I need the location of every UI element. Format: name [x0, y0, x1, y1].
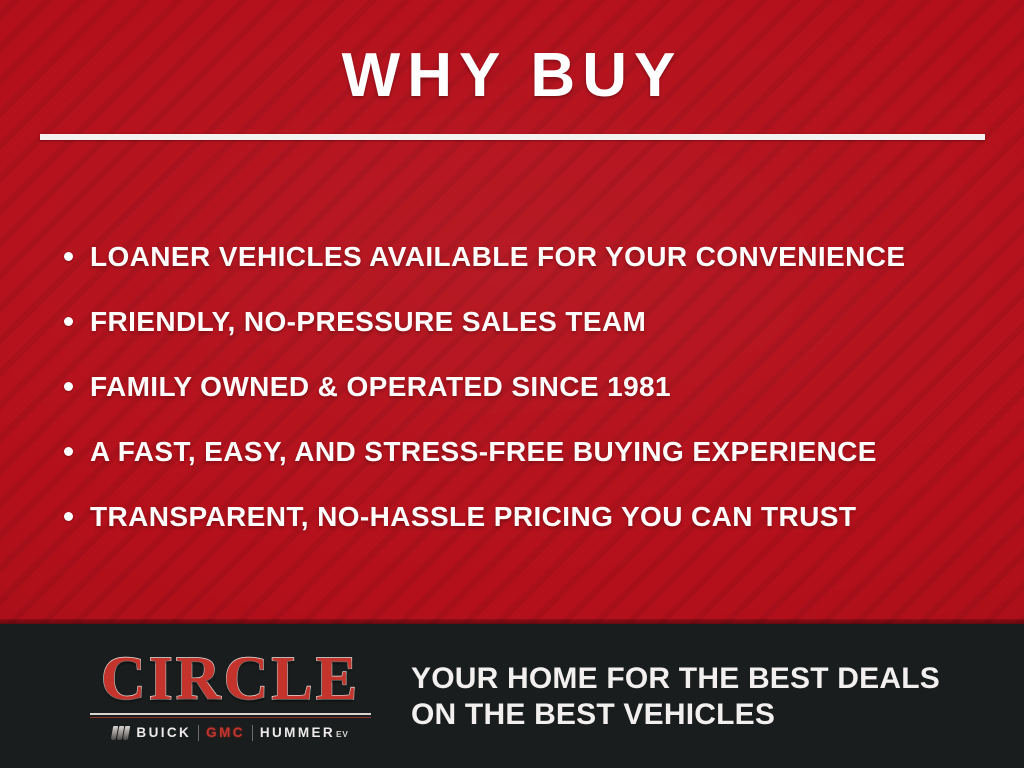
list-item-label: LOANER VEHICLES AVAILABLE FOR YOUR CONVE…: [90, 242, 994, 272]
brand-label-hummer-ev: EV: [336, 729, 349, 739]
footer-tagline: YOUR HOME FOR THE BEST DEALS ON THE BEST…: [411, 659, 1024, 733]
list-item: LOANER VEHICLES AVAILABLE FOR YOUR CONVE…: [64, 224, 994, 289]
list-item-label: A FAST, EASY, AND STRESS-FREE BUYING EXP…: [90, 437, 994, 467]
footer-tagline-line-2: ON THE BEST VEHICLES: [411, 697, 1024, 733]
logo-divider-line-red: [90, 717, 371, 718]
dealership-logo: CIRCLE BUICK GMC HUMMEREV: [88, 650, 373, 742]
slide-title: WHY BUY: [0, 44, 1024, 108]
list-item: A FAST, EASY, AND STRESS-FREE BUYING EXP…: [64, 419, 994, 484]
list-item: FAMILY OWNED & OPERATED SINCE 1981: [64, 354, 994, 419]
logo-divider-line-light: [90, 713, 371, 715]
brand-label-hummer-text: HUMMER: [260, 725, 335, 740]
title-divider-rule: [40, 134, 985, 140]
bullet-dot-icon: [64, 382, 73, 391]
brand-label-hummer: HUMMEREV: [260, 726, 349, 741]
list-item: TRANSPARENT, NO-HASSLE PRICING YOU CAN T…: [64, 484, 994, 549]
logo-divider: [90, 713, 371, 718]
brand-label-gmc: GMC: [206, 726, 245, 740]
list-item-label: FAMILY OWNED & OPERATED SINCE 1981: [90, 372, 994, 402]
buick-trishield-icon: [111, 726, 130, 740]
list-item: FRIENDLY, NO-PRESSURE SALES TEAM: [64, 289, 994, 354]
footer-tagline-line-1: YOUR HOME FOR THE BEST DEALS: [411, 661, 1024, 697]
brand-separator-icon: [252, 725, 253, 741]
why-buy-slide: WHY BUY LOANER VEHICLES AVAILABLE FOR YO…: [0, 0, 1024, 768]
footer-content: CIRCLE BUICK GMC HUMMEREV YOUR H: [0, 650, 1024, 742]
brand-strip: BUICK GMC HUMMEREV: [88, 724, 373, 742]
benefits-list: LOANER VEHICLES AVAILABLE FOR YOUR CONVE…: [64, 224, 994, 549]
list-item-label: TRANSPARENT, NO-HASSLE PRICING YOU CAN T…: [90, 502, 994, 532]
bullet-dot-icon: [64, 512, 73, 521]
slide-footer: CIRCLE BUICK GMC HUMMEREV YOUR H: [0, 624, 1024, 768]
list-item-label: FRIENDLY, NO-PRESSURE SALES TEAM: [90, 307, 994, 337]
bullet-dot-icon: [64, 447, 73, 456]
bullet-dot-icon: [64, 317, 73, 326]
bullet-dot-icon: [64, 252, 73, 261]
brand-label-buick: BUICK: [136, 726, 191, 740]
brand-separator-icon: [198, 725, 199, 741]
logo-wordmark: CIRCLE: [88, 650, 373, 708]
